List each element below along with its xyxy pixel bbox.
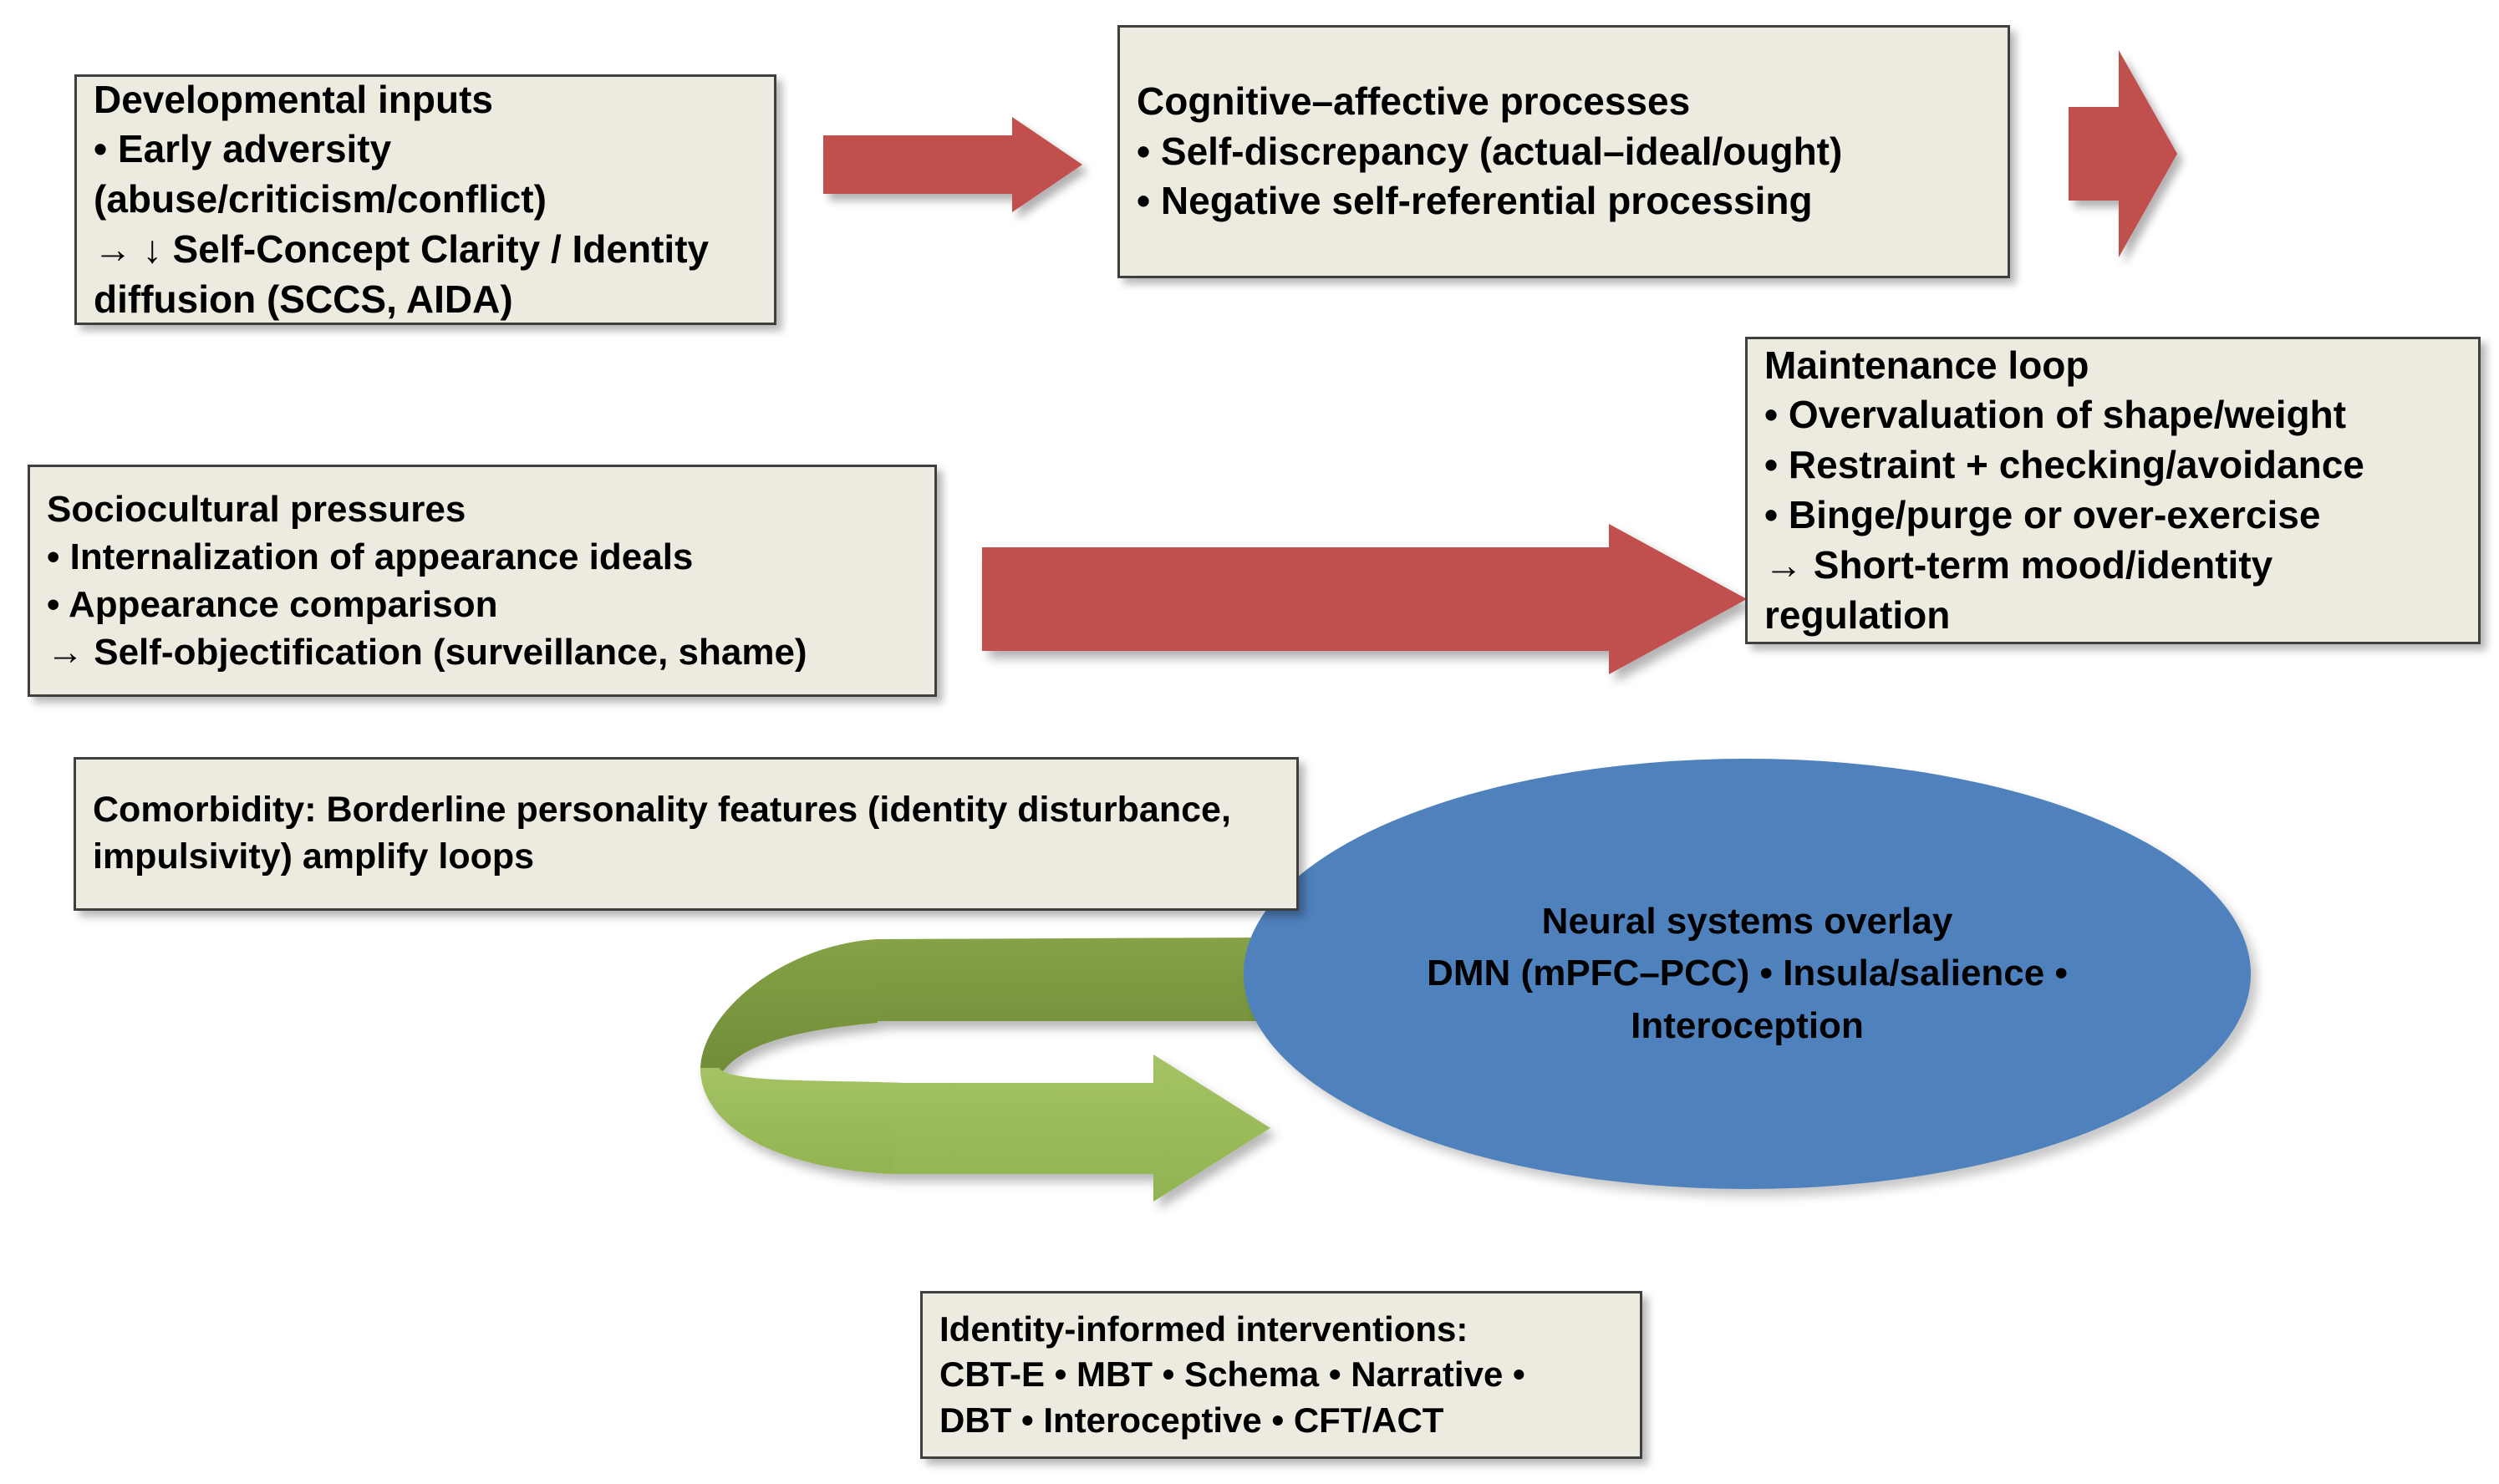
maintenance-loop-line-2: • Restraint + checking/avoidance [1764,440,2461,490]
maintenance-loop-heading: Maintenance loop [1764,341,2461,391]
comorbidity-line-2: impulsivity) amplify loops [93,834,1280,881]
developmental-inputs-line-2: (abuse/criticism/conflict) [94,175,757,225]
developmental-inputs-line-1: • Early adversity [94,125,757,175]
arrow-cognitive-outflow-icon [2060,42,2194,267]
interventions-line-2: CBT-E • MBT • Schema • Narrative • [939,1352,1623,1398]
arrow-neural-feedback-loop-icon [685,919,1304,1187]
developmental-inputs-line-3: → ↓ Self-Concept Clarity / Identity [94,225,757,275]
maintenance-loop-line-5: regulation [1764,591,2461,641]
ellipse-line-3: Interoception [1427,1000,2068,1052]
developmental-inputs-box: Developmental inputs • Early adversity (… [74,74,776,325]
sociocultural-pressures-heading: Sociocultural pressures [47,485,918,533]
interventions-box: Identity-informed interventions: CBT-E •… [920,1291,1642,1459]
comorbidity-line-1: Comorbidity: Borderline personality feat… [93,787,1280,834]
developmental-inputs-line-4: diffusion (SCCS, AIDA) [94,275,757,325]
interventions-line-3: DBT • Interoceptive • CFT/ACT [939,1398,1623,1444]
interventions-line-1: Identity-informed interventions: [939,1307,1623,1353]
developmental-inputs-heading: Developmental inputs [94,75,757,125]
cognitive-affective-line-1: • Self-discrepancy (actual–ideal/ought) [1137,127,1991,177]
comorbidity-box: Comorbidity: Borderline personality feat… [74,757,1299,911]
maintenance-loop-line-3: • Binge/purge or over-exercise [1764,490,2461,541]
cognitive-affective-box: Cognitive–affective processes • Self-dis… [1117,25,2010,278]
neural-systems-overlay-ellipse: Neural systems overlay DMN (mPFC–PCC) • … [1244,759,2251,1189]
cognitive-affective-heading: Cognitive–affective processes [1137,77,1991,127]
sociocultural-pressures-line-1: • Internalization of appearance ideals [47,533,918,581]
ellipse-line-2: DMN (mPFC–PCC) • Insula/salience • [1427,948,2068,999]
cognitive-affective-line-2: • Negative self-referential processing [1137,176,1991,226]
sociocultural-pressures-box: Sociocultural pressures • Internalizatio… [28,465,937,697]
maintenance-loop-line-4: → Short-term mood/identity [1764,541,2461,591]
arrow-dev-to-cognitive-icon [815,117,1091,221]
maintenance-loop-line-1: • Overvaluation of shape/weight [1764,390,2461,440]
maintenance-loop-box: Maintenance loop • Overvaluation of shap… [1745,337,2481,644]
ellipse-line-1: Neural systems overlay [1427,896,2068,948]
sociocultural-pressures-line-3: → Self-objectification (surveillance, sh… [47,628,918,676]
arrow-sociocultural-to-maintenance-icon [974,522,1768,677]
sociocultural-pressures-line-2: • Appearance comparison [47,581,918,628]
diagram-canvas: Neural systems overlay DMN (mPFC–PCC) • … [0,0,2499,1484]
